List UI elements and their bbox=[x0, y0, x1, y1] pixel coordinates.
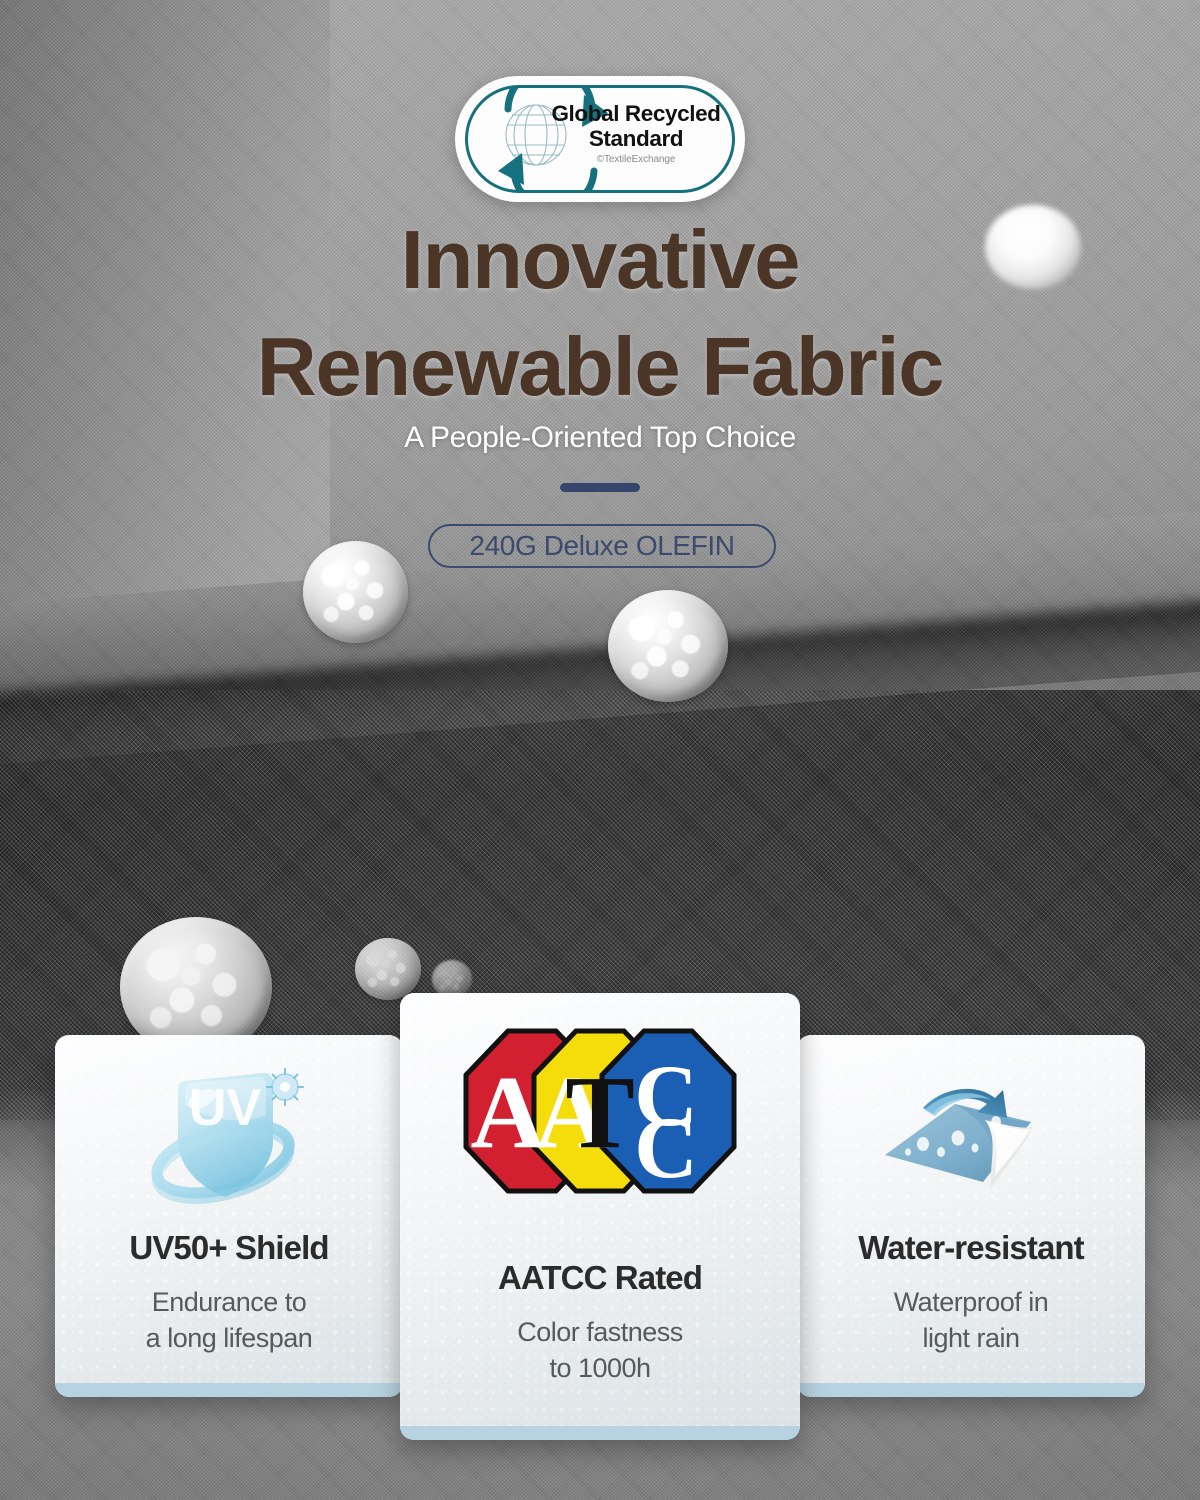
svg-text:C: C bbox=[634, 1100, 698, 1197]
badge-attribution: ©TextileExchange bbox=[548, 154, 724, 165]
water-repellent-fabric-icon bbox=[863, 1060, 1085, 1220]
title-divider bbox=[560, 483, 640, 492]
uv-shield-icon: UV bbox=[145, 1055, 325, 1220]
product-feature-banner: Global Recycled Standard ©TextileExchang… bbox=[0, 0, 1200, 1500]
feature-card-body: Color fastness to 1000h bbox=[400, 1315, 800, 1386]
page-subtitle: A People-Oriented Top Choice bbox=[0, 421, 1200, 455]
feature-body-line1: Endurance to bbox=[152, 1287, 307, 1317]
card-accent-strip bbox=[400, 1426, 800, 1440]
spec-badge-label: 240G Deluxe OLEFIN bbox=[469, 530, 734, 562]
feature-body-line2: to 1000h bbox=[549, 1353, 650, 1383]
feature-card-body: Waterproof in light rain bbox=[797, 1285, 1145, 1356]
card-accent-strip bbox=[55, 1383, 403, 1397]
feature-body-line1: Color fastness bbox=[517, 1317, 683, 1347]
spec-badge: 240G Deluxe OLEFIN bbox=[428, 524, 776, 568]
feature-card-body: Endurance to a long lifespan bbox=[55, 1285, 403, 1356]
card-accent-strip bbox=[797, 1383, 1145, 1397]
page-title-line2: Renewable Fabric bbox=[0, 325, 1200, 408]
feature-card-title: AATCC Rated bbox=[400, 1259, 800, 1297]
aatcc-logo-icon: A A T C C bbox=[460, 1025, 740, 1197]
feature-body-line1: Waterproof in bbox=[894, 1287, 1049, 1317]
feature-card-title: Water-resistant bbox=[797, 1229, 1145, 1267]
badge-title-line2: Standard bbox=[548, 126, 724, 151]
feature-body-line2: a long lifespan bbox=[146, 1323, 313, 1353]
page-title-line1: Innovative bbox=[0, 218, 1200, 301]
svg-text:T: T bbox=[565, 1055, 634, 1170]
feature-body-line2: light rain bbox=[922, 1323, 1019, 1353]
badge-title-line1: Global Recycled bbox=[548, 103, 724, 126]
feature-card-title: UV50+ Shield bbox=[55, 1229, 403, 1267]
global-recycled-standard-badge: Global Recycled Standard ©TextileExchang… bbox=[455, 76, 745, 202]
